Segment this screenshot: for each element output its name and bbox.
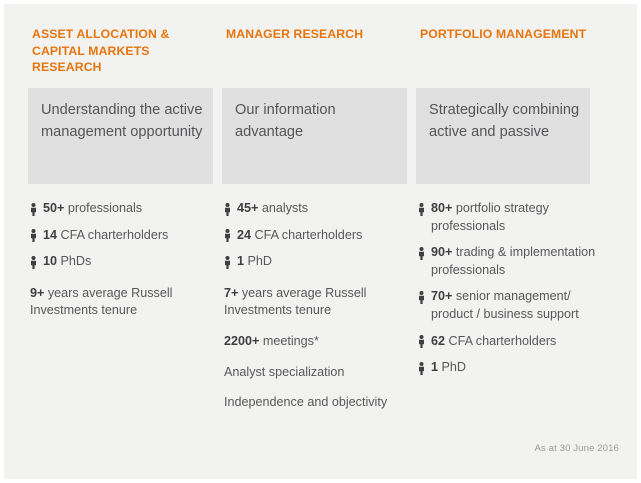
person-icon: [418, 247, 425, 260]
fact-lead: 45+: [237, 201, 258, 215]
headline-text: Strategically combining active and passi…: [429, 100, 584, 143]
facts-list: 80+ portfolio strategy professionals 90+…: [418, 200, 616, 386]
column-asset-allocation: ASSET ALLOCATION & CAPITAL MARKETS RESEA…: [28, 4, 213, 479]
column-portfolio-management: PORTFOLIO MANAGEMENT Strategically combi…: [416, 4, 616, 479]
fact-item: 1 PhD: [418, 359, 616, 377]
fact-item: 90+ trading & implementation professiona…: [418, 244, 616, 279]
person-icon: [30, 229, 37, 242]
fact-item: 2200+ meetings*: [224, 333, 407, 351]
fact-lead: 24: [237, 228, 251, 242]
column-heading: MANAGER RESEARCH: [226, 26, 407, 43]
fact-item: 24 CFA charterholders: [224, 227, 407, 245]
column-heading: ASSET ALLOCATION & CAPITAL MARKETS RESEA…: [32, 26, 213, 76]
fact-text: meetings*: [259, 334, 319, 348]
fact-text: years average Russell Investments tenure: [30, 286, 172, 318]
fact-lead: 10: [43, 254, 57, 268]
fact-lead: 14: [43, 228, 57, 242]
headline-text: Understanding the active management oppo…: [41, 100, 207, 143]
fact-lead: 1: [431, 360, 438, 374]
as-at-date-footnote: As at 30 June 2016: [535, 443, 619, 454]
headline-box: Our information advantage: [222, 88, 407, 184]
fact-item: 9+ years average Russell Investments ten…: [30, 285, 213, 320]
fact-item: 80+ portfolio strategy professionals: [418, 200, 616, 235]
person-icon: [30, 203, 37, 216]
fact-item: 1 PhD: [224, 253, 407, 271]
fact-text: Analyst specialization: [224, 365, 344, 379]
fact-text: professionals: [64, 201, 142, 215]
column-heading: PORTFOLIO MANAGEMENT: [420, 26, 616, 43]
fact-item: 10 PhDs: [30, 253, 213, 271]
person-icon: [418, 362, 425, 375]
headline-box: Understanding the active management oppo…: [28, 88, 213, 184]
fact-item: 50+ professionals: [30, 200, 213, 218]
fact-text: PhDs: [57, 254, 91, 268]
fact-lead: 1: [237, 254, 244, 268]
headline-text: Our information advantage: [235, 100, 401, 143]
fact-text: PhD: [438, 360, 466, 374]
fact-text: trading & implementation professionals: [431, 245, 595, 277]
fact-text: PhD: [244, 254, 272, 268]
fact-item: 14 CFA charterholders: [30, 227, 213, 245]
slide-canvas: ASSET ALLOCATION & CAPITAL MARKETS RESEA…: [4, 4, 637, 479]
fact-lead: 80+: [431, 201, 452, 215]
fact-lead: 7+: [224, 286, 238, 300]
fact-lead: 9+: [30, 286, 44, 300]
fact-text: senior management/ product / business su…: [431, 289, 579, 321]
fact-item: Independence and objectivity: [224, 394, 407, 412]
columns-container: ASSET ALLOCATION & CAPITAL MARKETS RESEA…: [4, 4, 637, 479]
fact-text: CFA charterholders: [445, 334, 556, 348]
fact-item: 45+ analysts: [224, 200, 407, 218]
headline-box: Strategically combining active and passi…: [416, 88, 590, 184]
fact-lead: 62: [431, 334, 445, 348]
facts-list: 45+ analysts 24 CFA charterholders 1 PhD…: [224, 200, 407, 421]
fact-lead: 70+: [431, 289, 452, 303]
person-icon: [224, 229, 231, 242]
fact-text: CFA charterholders: [57, 228, 168, 242]
person-icon: [30, 256, 37, 269]
column-manager-research: MANAGER RESEARCH Our information advanta…: [222, 4, 407, 479]
person-icon: [418, 291, 425, 304]
person-icon: [224, 256, 231, 269]
fact-lead: 90+: [431, 245, 452, 259]
fact-item: 7+ years average Russell Investments ten…: [224, 285, 407, 320]
facts-list: 50+ professionals 14 CFA charterholders …: [30, 200, 213, 329]
fact-text: Independence and objectivity: [224, 395, 387, 409]
fact-text: analysts: [258, 201, 308, 215]
fact-item: Analyst specialization: [224, 364, 407, 382]
fact-item: 70+ senior management/ product / busines…: [418, 288, 616, 323]
fact-text: years average Russell Investments tenure: [224, 286, 366, 318]
fact-lead: 50+: [43, 201, 64, 215]
fact-text: CFA charterholders: [251, 228, 362, 242]
fact-item: 62 CFA charterholders: [418, 333, 616, 351]
person-icon: [418, 335, 425, 348]
person-icon: [418, 203, 425, 216]
fact-lead: 2200+: [224, 334, 259, 348]
person-icon: [224, 203, 231, 216]
